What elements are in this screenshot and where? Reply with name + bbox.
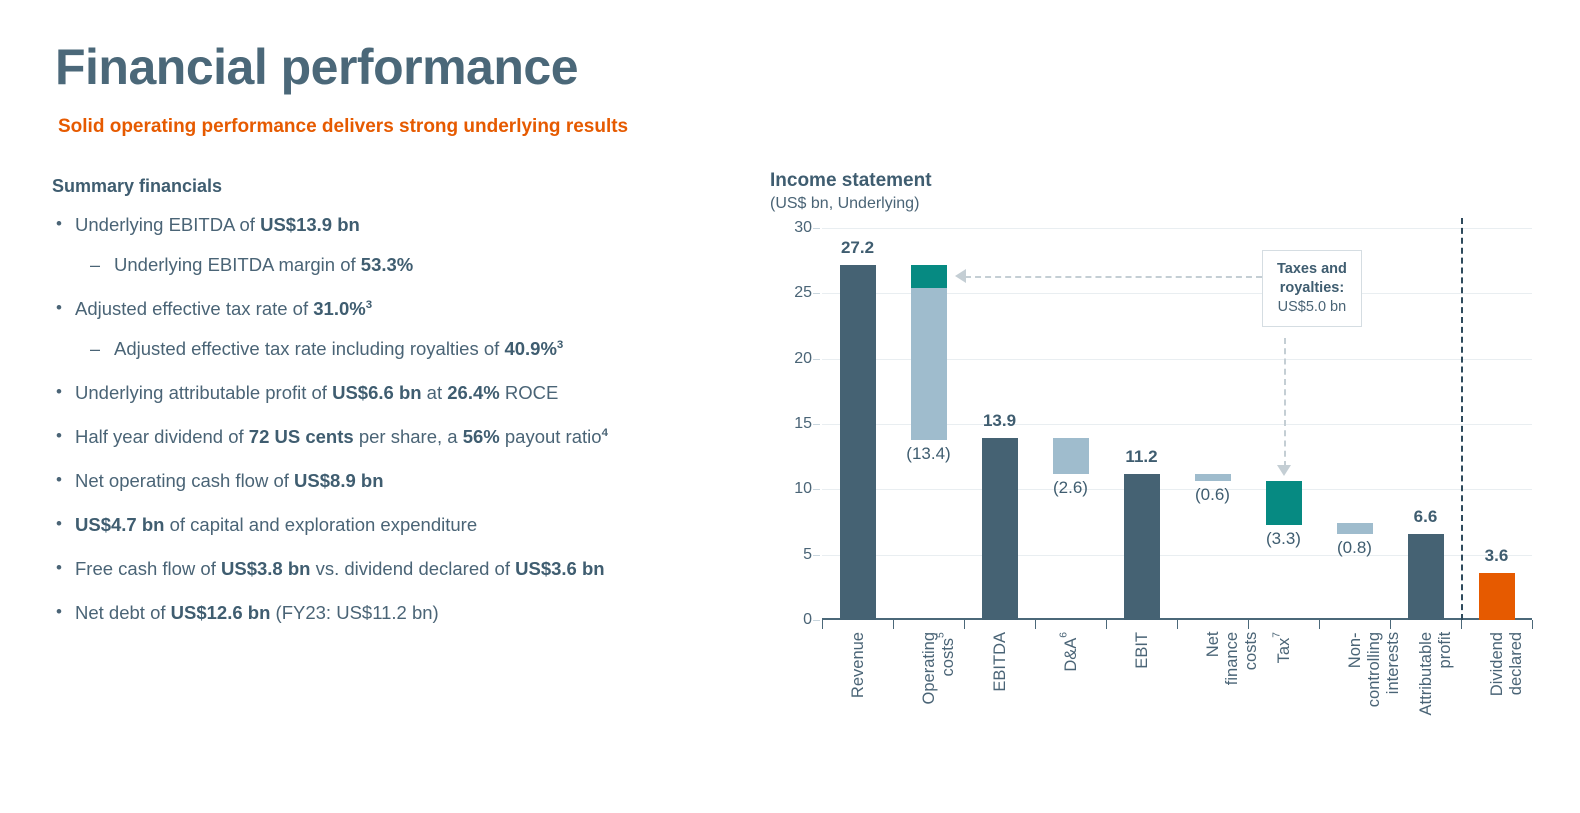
x-axis-category-label: Tax7	[1275, 632, 1294, 663]
x-axis-category-label: Operating costs5	[920, 632, 958, 704]
plot-canvas: 05101520253027.2Revenue(13.4)Operating c…	[822, 228, 1532, 620]
y-axis-label: 10	[794, 480, 812, 498]
plot-area: 05101520253027.2Revenue(13.4)Operating c…	[770, 228, 1560, 788]
y-axis-tick	[813, 228, 820, 229]
summary-bullet: Net debt of US$12.6 bn (FY23: US$11.2 bn…	[52, 601, 752, 625]
page-title: Financial performance	[55, 38, 578, 96]
y-axis-tick	[813, 359, 820, 360]
x-axis-tick	[1319, 620, 1320, 629]
gridline	[822, 228, 1532, 229]
x-axis-tick	[1248, 620, 1249, 629]
chart-title: Income statement	[770, 170, 1560, 192]
chart-bar[interactable]	[1408, 534, 1444, 620]
gridline	[822, 489, 1532, 490]
y-axis-label: 15	[794, 415, 812, 433]
chart-bar[interactable]	[1479, 573, 1515, 620]
page-subtitle: Solid operating performance delivers str…	[58, 116, 628, 138]
x-axis-category-label: Revenue	[849, 632, 868, 698]
x-axis-tick	[964, 620, 965, 629]
x-axis-tick	[1461, 620, 1462, 629]
summary-bullet: Adjusted effective tax rate of 31.0%3	[52, 297, 752, 321]
x-axis-category-label: EBITDA	[991, 632, 1010, 692]
chart-bar[interactable]	[982, 438, 1018, 620]
x-axis-category-label: Non-controllinginterests	[1346, 632, 1403, 707]
x-axis-category-label: Net financecosts	[1204, 632, 1261, 685]
x-axis-tick	[1532, 620, 1533, 629]
bar-value-label: (0.8)	[1337, 538, 1372, 558]
chart-bar-royalties-segment[interactable]	[911, 265, 947, 289]
y-axis-label: 30	[794, 219, 812, 237]
chart-bar[interactable]	[1195, 474, 1231, 482]
chart-subtitle: (US$ bn, Underlying)	[770, 195, 1560, 213]
bar-value-label: (0.6)	[1195, 485, 1230, 505]
y-axis-tick	[813, 424, 820, 425]
y-axis-label: 0	[803, 611, 812, 629]
x-axis-tick	[822, 620, 823, 629]
summary-bullet: Underlying EBITDA of US$13.9 bn	[52, 213, 752, 237]
chart-bar[interactable]	[1053, 438, 1089, 473]
y-axis-label: 5	[803, 546, 812, 564]
summary-bullet: Net operating cash flow of US$8.9 bn	[52, 469, 752, 493]
chart-section-divider	[1461, 218, 1463, 620]
summary-sub-bullet: Underlying EBITDA margin of 53.3%	[52, 253, 752, 277]
bar-value-label: 27.2	[841, 238, 874, 258]
bar-value-label: 3.6	[1485, 546, 1509, 566]
y-axis-tick	[813, 293, 820, 294]
bar-value-label: (2.6)	[1053, 478, 1088, 498]
summary-bullet-list: Underlying EBITDA of US$13.9 bnUnderlyin…	[52, 213, 752, 625]
x-axis-tick	[1177, 620, 1178, 629]
chart-bar[interactable]	[840, 265, 876, 620]
chart-bar[interactable]	[1266, 481, 1302, 524]
summary-bullet: Free cash flow of US$3.8 bn vs. dividend…	[52, 557, 752, 581]
bar-value-label: 6.6	[1414, 507, 1438, 527]
summary-bullet: Underlying attributable profit of US$6.6…	[52, 381, 752, 405]
summary-bullet: Half year dividend of 72 US cents per sh…	[52, 425, 752, 449]
x-axis-tick	[1035, 620, 1036, 629]
callout-arrow-down-icon	[1277, 465, 1291, 476]
callout-arrow-left-icon	[955, 269, 966, 283]
x-axis-category-label: Attributable profit	[1417, 632, 1455, 715]
summary-sub-bullet: Adjusted effective tax rate including ro…	[52, 337, 752, 361]
bar-value-label: (3.3)	[1266, 529, 1301, 549]
y-axis-tick	[813, 489, 820, 490]
y-axis-tick	[813, 555, 820, 556]
callout-leader-vertical	[1284, 338, 1286, 467]
bar-value-label: (13.4)	[906, 444, 950, 464]
y-axis-label: 20	[794, 350, 812, 368]
chart-bar[interactable]	[1124, 474, 1160, 620]
x-axis-category-label: Dividenddeclared	[1488, 632, 1526, 696]
x-axis-tick	[893, 620, 894, 629]
bar-value-label: 13.9	[983, 411, 1016, 431]
chart-bar[interactable]	[911, 265, 947, 440]
summary-bullet: US$4.7 bn of capital and exploration exp…	[52, 513, 752, 537]
summary-heading: Summary financials	[52, 176, 752, 197]
y-axis-label: 25	[794, 284, 812, 302]
taxes-royalties-callout: Taxes androyalties:US$5.0 bn	[1262, 250, 1362, 327]
income-statement-chart: Income statement (US$ bn, Underlying) 05…	[770, 170, 1560, 780]
summary-financials-section: Summary financials Underlying EBITDA of …	[52, 176, 752, 645]
chart-bar[interactable]	[1337, 523, 1373, 533]
x-axis-category-label: D&A6	[1062, 632, 1081, 672]
x-axis-category-label: EBIT	[1133, 632, 1152, 669]
x-axis-tick	[1390, 620, 1391, 629]
bar-value-label: 11.2	[1125, 447, 1157, 467]
callout-leader-horizontal	[965, 276, 1263, 278]
x-axis-tick	[1106, 620, 1107, 629]
y-axis-tick	[813, 620, 820, 621]
